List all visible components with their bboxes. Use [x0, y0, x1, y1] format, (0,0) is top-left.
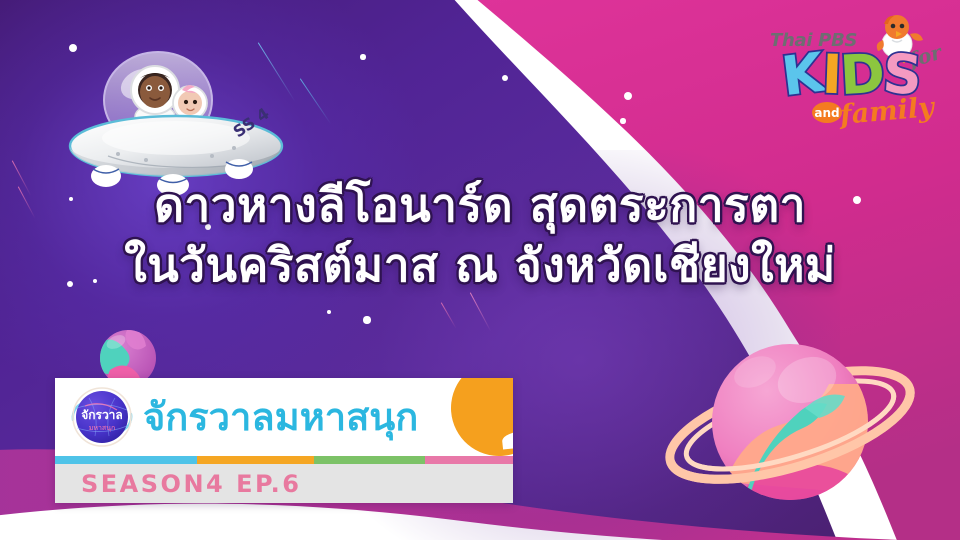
- logo-and-badge: and: [812, 102, 842, 123]
- star-dot: [363, 316, 370, 323]
- logo-letter-k: K: [779, 46, 827, 105]
- orange-swoosh-decoration: [439, 378, 513, 468]
- badge-line-2: มหาสนุก: [89, 424, 115, 432]
- logo-family-text: family: [839, 92, 935, 131]
- program-badge-icon: จักรวาล มหาสนุก: [69, 384, 135, 450]
- color-stripe: [55, 456, 513, 464]
- episode-title: ดาวหางลีโอนาร์ด สุดตระการตา ในวันคริสต์ม…: [0, 176, 960, 296]
- logo-letter-d: D: [839, 47, 887, 103]
- star-dot: [620, 118, 625, 123]
- stripe-segment-orange: [197, 456, 314, 464]
- stripe-segment-pink: [425, 456, 513, 464]
- show-card-footer: SEASON4 EP.6: [55, 464, 513, 503]
- season-episode-label: SEASON4 EP.6: [81, 470, 301, 498]
- ringed-planet-icon: [655, 322, 925, 522]
- star-dot: [624, 92, 632, 100]
- star-dot: [360, 54, 365, 59]
- stripe-segment-cyan: [55, 456, 197, 464]
- episode-thumbnail: SS 4 ดาวหางลีโอนาร์ด สุดตระการตา ในวันคร…: [0, 0, 960, 540]
- show-card[interactable]: จักรวาล มหาสนุก จักรวาลมหาสนุก SEASON4 E…: [55, 378, 513, 503]
- program-title: จักรวาลมหาสนุก: [143, 398, 418, 436]
- show-card-header: จักรวาล มหาสนุก จักรวาลมหาสนุก: [55, 378, 513, 456]
- thai-pbs-kids-logo: Thai PBS for K I D S and family: [766, 14, 946, 138]
- badge-line-1: จักรวาล: [81, 408, 123, 422]
- stripe-segment-green: [314, 456, 425, 464]
